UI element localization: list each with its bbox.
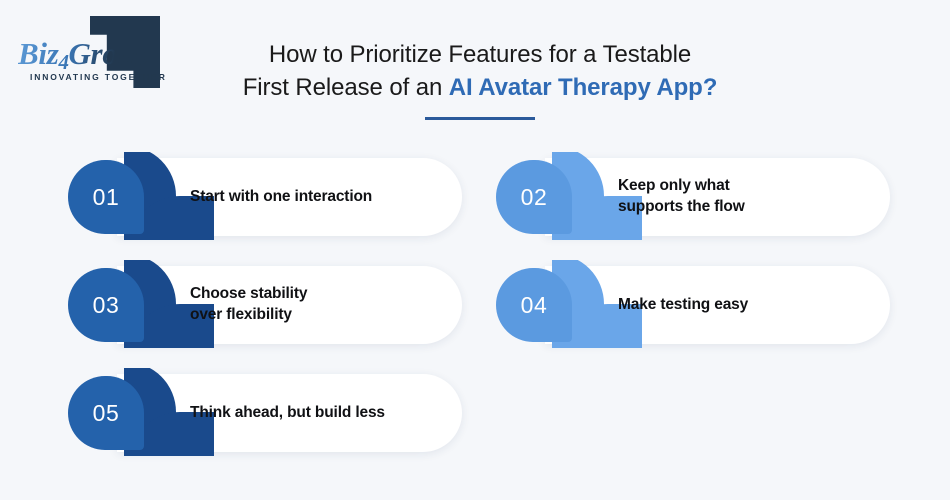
list-item-number: 05: [93, 400, 120, 427]
list-item-badge: 02: [496, 160, 572, 234]
list-item-label: Make testing easy: [618, 260, 888, 348]
title-line-2: First Release of an AI Avatar Therapy Ap…: [225, 71, 735, 104]
list-item-badge: 01: [68, 160, 144, 234]
list-item-label: Think ahead, but build less: [190, 368, 460, 456]
list-item[interactable]: 05 Think ahead, but build less: [62, 368, 482, 456]
list-item-number: 03: [93, 292, 120, 319]
tips-grid: 01 Start with one interaction 02 Keep on…: [0, 152, 950, 482]
list-item-badge: 04: [496, 268, 572, 342]
list-item-label: Start with one interaction: [190, 152, 460, 240]
list-item-badge: 05: [68, 376, 144, 450]
list-item-number: 02: [521, 184, 548, 211]
logo-word-four: 4: [58, 50, 68, 74]
list-item-badge: 03: [68, 268, 144, 342]
page-title: How to Prioritize Features for a Testabl…: [225, 38, 735, 120]
logo-word-group: Group: [68, 36, 149, 71]
logo-wordmark: Biz4Group: [18, 36, 150, 75]
list-item[interactable]: 01 Start with one interaction: [62, 152, 482, 240]
list-item[interactable]: 02 Keep only whatsupports the flow: [490, 152, 910, 240]
title-accent-text: AI Avatar Therapy App?: [449, 74, 718, 101]
list-item-label: Keep only whatsupports the flow: [618, 152, 888, 240]
list-item[interactable]: 04 Make testing easy: [490, 260, 910, 348]
list-item-number: 01: [93, 184, 120, 211]
list-item[interactable]: 03 Choose stabilityover flexibility: [62, 260, 482, 348]
title-line-1: How to Prioritize Features for a Testabl…: [225, 38, 735, 71]
list-item-number: 04: [521, 292, 548, 319]
title-line-2-prefix: First Release of an: [243, 74, 449, 101]
logo-tagline: INNOVATING TOGETHER: [30, 72, 167, 82]
logo-word-biz: Biz: [18, 36, 58, 71]
list-item-label: Choose stabilityover flexibility: [190, 260, 460, 348]
brand-logo: Biz4Group INNOVATING TOGETHER: [18, 16, 193, 92]
header: Biz4Group INNOVATING TOGETHER How to Pri…: [0, 0, 950, 140]
title-underline-rule: [425, 117, 535, 120]
